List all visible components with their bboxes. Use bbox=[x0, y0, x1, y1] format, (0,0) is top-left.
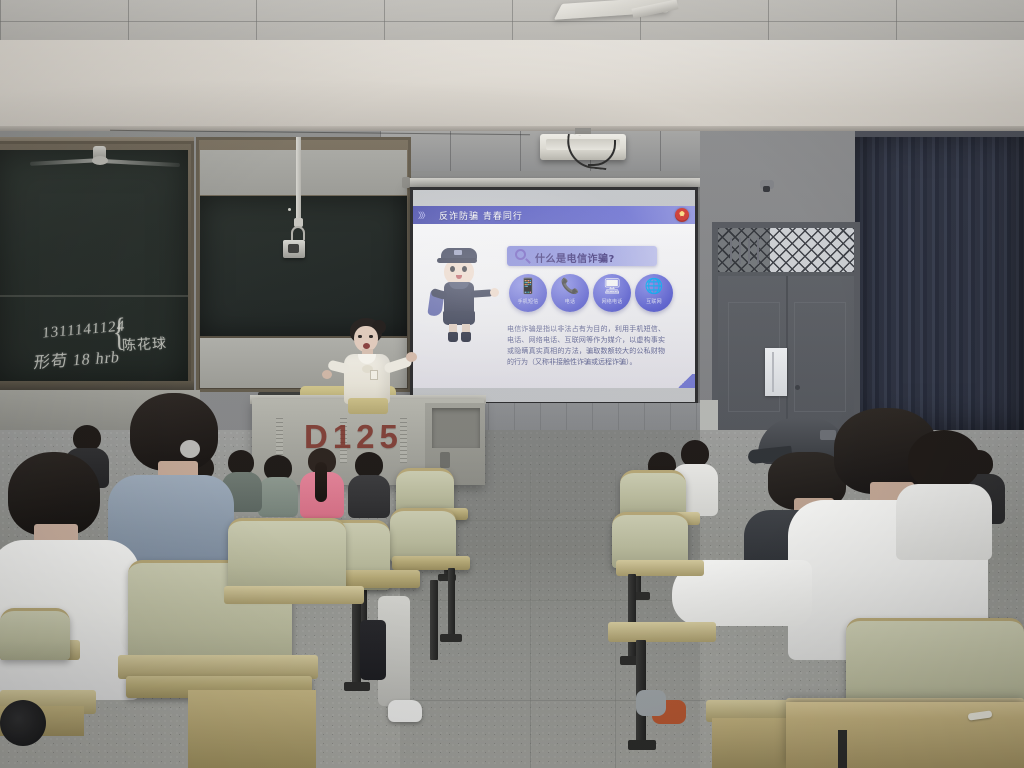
student-legs bbox=[360, 620, 386, 680]
slide-definition-paragraph: 电信诈骗是指以非法占有为目的，利用手机短信、电话、网络电话、互联网等作为媒介，以… bbox=[507, 324, 665, 368]
chevron-arrows-icon: 〉〉〉 bbox=[418, 210, 428, 221]
desk-leg bbox=[448, 568, 455, 638]
slide-question-banner: 什么是电信诈骗? bbox=[507, 246, 657, 266]
projection-screen-roller bbox=[406, 178, 702, 187]
sms-label: 手机短信 bbox=[509, 298, 547, 305]
chalk-writing-line-3: 陈花球 bbox=[122, 333, 168, 355]
door-sign-panel bbox=[765, 348, 787, 396]
door-handle[interactable] bbox=[795, 385, 800, 390]
transom-bars bbox=[730, 238, 766, 264]
fraud-channel-sms: 📱 手机短信 bbox=[509, 274, 547, 312]
desk-foot bbox=[344, 682, 370, 691]
slide-question-text: 什么是电信诈骗? bbox=[535, 250, 615, 265]
podium-cabinet-handle[interactable] bbox=[440, 452, 450, 468]
slide-body: 什么是电信诈骗? 📱 手机短信 📞 电话 🖥 网络电话 bbox=[413, 224, 695, 388]
desk-front-panel bbox=[188, 690, 316, 768]
backpack bbox=[0, 700, 46, 746]
hanging-pole bbox=[296, 137, 301, 222]
chair-back bbox=[620, 470, 686, 518]
phone-icon: 📞 bbox=[551, 279, 589, 294]
blackboard-rail bbox=[0, 295, 188, 297]
curtain-rail bbox=[855, 131, 1024, 137]
desk-top bbox=[608, 622, 716, 642]
projection-screen: 〉〉〉 反诈防骗 青春同行 bbox=[413, 190, 695, 402]
student-shoe bbox=[636, 690, 666, 716]
right-blackboard bbox=[200, 196, 407, 336]
student bbox=[348, 452, 390, 518]
desk-top bbox=[224, 586, 364, 604]
chair-back bbox=[390, 508, 456, 562]
fraud-channel-phone: 📞 电话 bbox=[551, 274, 589, 312]
student bbox=[300, 448, 344, 518]
door-sign-line bbox=[772, 352, 774, 392]
fraud-channel-internet: 🌐 互联网 bbox=[635, 274, 673, 312]
door-panel-inset-right bbox=[794, 302, 846, 412]
blackboard-upper-panel bbox=[200, 150, 407, 195]
desk-foot bbox=[440, 634, 462, 642]
network-call-label: 网络电话 bbox=[593, 298, 631, 305]
device-lens bbox=[288, 244, 299, 253]
desk-top bbox=[392, 556, 470, 570]
network-call-icon: 🖥 bbox=[593, 279, 631, 294]
student-shoe bbox=[388, 700, 422, 722]
right-wall-baseboard bbox=[700, 400, 718, 432]
foreground-desk-leg bbox=[838, 730, 847, 768]
sms-icon: 📱 bbox=[509, 279, 547, 294]
pole-hook bbox=[291, 226, 305, 240]
internet-icon: 🌐 bbox=[635, 279, 673, 294]
student bbox=[896, 430, 992, 560]
ceiling-fan-hub bbox=[92, 156, 108, 165]
screen-roller-cap bbox=[402, 177, 410, 188]
student bbox=[258, 455, 298, 515]
blackboard-magnet bbox=[288, 208, 291, 211]
cartoon-police-officer-illustration bbox=[431, 246, 489, 342]
slide-header-title: 反诈防骗 青春同行 bbox=[439, 209, 523, 222]
police-badge-icon bbox=[675, 208, 689, 222]
floor-tile-seam bbox=[530, 470, 531, 768]
fraud-channel-network-call: 🖥 网络电话 bbox=[593, 274, 631, 312]
desk-foot bbox=[628, 740, 656, 750]
presentation-slide: 〉〉〉 反诈防骗 青春同行 bbox=[413, 206, 695, 388]
floor-tile-seam bbox=[420, 600, 690, 601]
earphone bbox=[180, 440, 200, 458]
magnifier-icon bbox=[515, 249, 526, 260]
internet-label: 互联网 bbox=[635, 298, 673, 305]
desk-leg bbox=[628, 574, 636, 660]
phone-label: 电话 bbox=[551, 298, 589, 305]
chair-back bbox=[228, 518, 346, 596]
classroom-photo: 1311141124 形苟 18 hrb { 陈花球 〉〉〉 反诈防骗 青春同行 bbox=[0, 0, 1024, 768]
window-curtain bbox=[855, 131, 1024, 431]
slide-corner-decoration bbox=[675, 374, 695, 388]
chair-back bbox=[0, 608, 70, 660]
desk-leg bbox=[430, 580, 438, 660]
slide-header-bar: 〉〉〉 反诈防骗 青春同行 bbox=[413, 206, 695, 224]
podium-cabinet-recess bbox=[432, 408, 480, 448]
camera-lens-icon bbox=[763, 186, 770, 192]
presenter-teacher bbox=[330, 318, 416, 410]
front-wall-upper-band bbox=[0, 40, 1024, 130]
